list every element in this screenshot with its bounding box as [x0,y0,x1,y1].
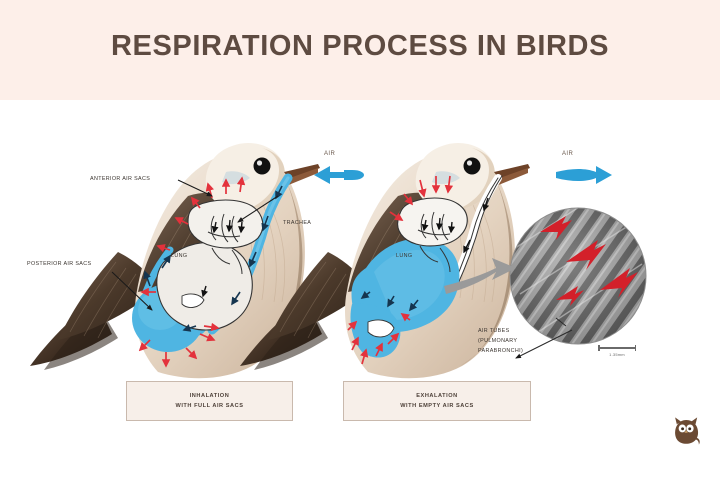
caption-box-exhalation: EXHALATION WITH EMPTY AIR SACS [343,381,531,421]
leader-anterior [178,180,212,196]
leader-posterior [112,272,152,310]
parabronchi-micrograph [510,186,646,358]
caption-inhalation-line2: WITH FULL AIR SACS [175,401,243,411]
caption-inhalation-line1: INHALATION [190,391,230,401]
air-arrow-exhalation [556,166,612,184]
label-air-tubes-line3: PARABRONCHI) [478,347,523,355]
label-air-inhalation: AIR [324,151,335,157]
label-posterior-air-sacs: POSTERIOR AIR SACS [27,260,91,268]
label-air-tubes-line1: AIR TUBES [478,327,510,335]
leader-trachea [238,196,278,222]
scale-bar-line [598,347,636,349]
owl-logo[interactable] [670,414,704,448]
zoom-pointer-arrow [444,258,516,294]
air-arrow-inhalation [314,166,364,184]
owl-icon [675,417,700,444]
caption-exhalation-line2: WITH EMPTY AIR SACS [400,401,474,411]
scale-bar-cap-right [635,345,637,351]
label-air-exhalation: AIR [562,151,573,157]
label-air-tubes-line2: (PULMONARY [478,337,517,345]
label-lung-left: LUNG [171,252,187,260]
caption-box-inhalation: INHALATION WITH FULL AIR SACS [126,381,293,421]
page-title: RESPIRATION PROCESS IN BIRDS [0,30,720,63]
diagram-canvas: RESPIRATION PROCESS IN BIRDS [0,0,720,480]
caption-exhalation-line1: EXHALATION [416,391,457,401]
micrograph-scale-bar: 1.35mm [598,345,636,359]
label-anterior-air-sacs: ANTERIOR AIR SACS [90,175,150,183]
label-lung-right: LUNG [396,252,412,260]
scale-bar-label: 1.35mm [598,352,636,357]
label-trachea: TRACHEA [283,219,311,227]
